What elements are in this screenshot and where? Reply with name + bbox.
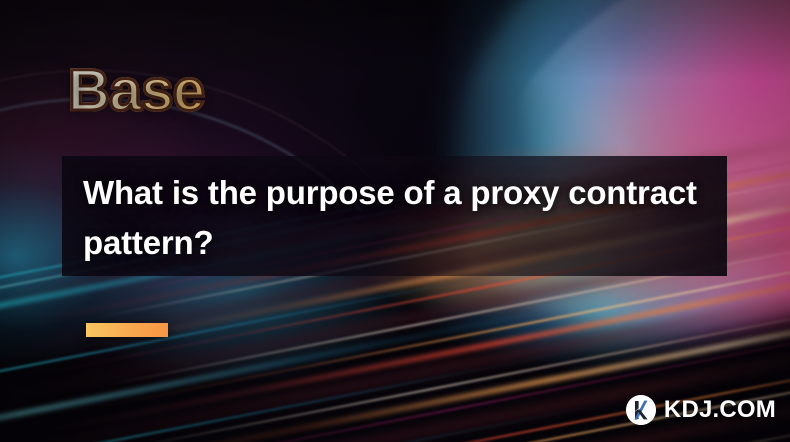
logo-wordmark: KDJ.COM	[664, 398, 776, 422]
kdj-k-monogram-icon	[626, 395, 656, 425]
headline-text: What is the purpose of a proxy contract …	[83, 168, 703, 268]
accent-divider	[86, 323, 168, 337]
promo-banner: Base What is the purpose of a proxy cont…	[0, 0, 790, 442]
site-logo[interactable]: KDJ.COM	[626, 395, 776, 425]
category-title: Base	[68, 62, 205, 120]
